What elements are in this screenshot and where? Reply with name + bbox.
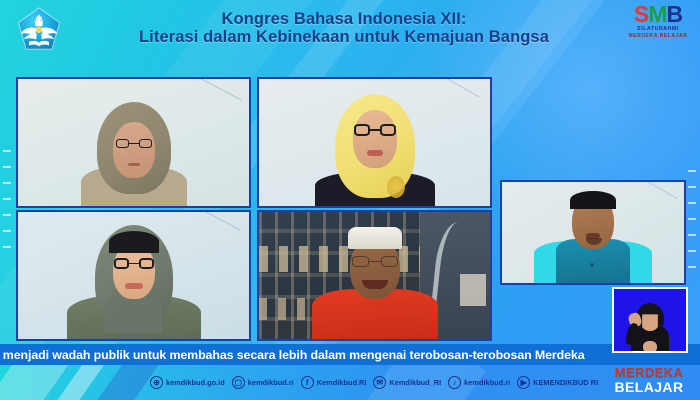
participant-figure [305, 90, 445, 206]
social-handle: Kemdikbud.RI [317, 378, 367, 387]
tiktok-icon: ♪ [448, 376, 461, 389]
video-tile-participant-5[interactable] [500, 180, 686, 285]
smb-subtitle-1: SILATURAHMI [622, 26, 694, 33]
social-link-website[interactable]: ⊕ kemdikbud.go.id [150, 376, 225, 389]
participant-face [113, 122, 155, 178]
ticker-text: g menjadi wadah publik untuk membahas se… [0, 348, 585, 362]
participant-glasses [114, 258, 154, 269]
video-tile-participant-3[interactable] [16, 210, 251, 341]
twitter-icon: ✉ [373, 376, 386, 389]
social-handle: kemdikbud.ri [464, 378, 510, 387]
decorative-dots-left [3, 150, 11, 260]
social-link-instagram[interactable]: ▢ kemdikbud.ri [232, 376, 294, 389]
news-ticker: g menjadi wadah publik untuk membahas se… [0, 344, 700, 365]
smb-logo: SMB SILATURAHMI MERDEKA BELAJAR [622, 2, 694, 50]
smb-subtitle-2: MERDEKA BELAJAR [622, 33, 694, 40]
video-tile-participant-1[interactable] [16, 77, 251, 208]
merdeka-belajar-line-2: BELAJAR [606, 380, 692, 395]
participant-hair [570, 191, 616, 209]
footer-bar: ⊕ kemdikbud.go.id ▢ kemdikbud.ri f Kemdi… [0, 365, 700, 400]
participant-figure [534, 191, 652, 283]
participant-glasses [354, 124, 396, 136]
social-link-twitter[interactable]: ✉ Kemdikbud_RI [373, 376, 441, 389]
participant-mouth [367, 150, 383, 156]
sign-language-interpreter-box[interactable] [612, 287, 688, 353]
social-media-bar: ⊕ kemdikbud.go.id ▢ kemdikbud.ri f Kemdi… [150, 365, 598, 400]
participant-brooch [387, 176, 405, 198]
instagram-icon: ▢ [232, 376, 245, 389]
participant-figure [69, 102, 199, 206]
decorative-dots-right [688, 170, 696, 280]
room-object [460, 274, 486, 306]
participant-glasses [352, 256, 398, 267]
smb-letter-b: B [666, 1, 682, 27]
social-handle: kemdikbud.go.id [166, 378, 225, 387]
social-link-facebook[interactable]: f Kemdikbud.RI [301, 376, 367, 389]
header-bar: Kongres Bahasa Indonesia XII: Literasi d… [0, 0, 700, 56]
merdeka-belajar-logo: MERDEKA BELAJAR [606, 366, 692, 398]
interpreter-hand [643, 341, 657, 353]
interpreter-figure [625, 299, 675, 353]
tut-wuri-handayani-logo [16, 7, 62, 51]
livestream-screen: Kongres Bahasa Indonesia XII: Literasi d… [0, 0, 700, 400]
participant-face [353, 110, 397, 168]
video-tile-participant-2[interactable] [257, 77, 492, 208]
participant-mouth [125, 283, 143, 289]
participant-figure [59, 221, 209, 339]
page-title: Kongres Bahasa Indonesia XII: Literasi d… [70, 5, 618, 53]
social-link-youtube[interactable]: ▶ KEMENDIKBUD RI [517, 376, 598, 389]
title-line-1: Kongres Bahasa Indonesia XII: [222, 11, 467, 29]
youtube-icon: ▶ [517, 376, 530, 389]
participant-vest-button [590, 263, 594, 267]
social-handle: KEMENDIKBUD RI [533, 378, 598, 387]
participant-hair [109, 231, 159, 253]
social-handle: kemdikbud.ri [248, 378, 294, 387]
web-icon: ⊕ [150, 376, 163, 389]
video-tile-participant-4[interactable] [257, 210, 492, 341]
title-line-2: Literasi dalam Kebinekaan untuk Kemajuan… [139, 29, 549, 47]
participant-peci-cap [348, 227, 402, 249]
social-handle: Kemdikbud_RI [389, 378, 441, 387]
social-link-tiktok[interactable]: ♪ kemdikbud.ri [448, 376, 510, 389]
smb-letter-m: M [648, 1, 666, 27]
participant-glasses [116, 139, 152, 148]
merdeka-belajar-line-1: MERDEKA [606, 366, 692, 380]
participant-mouth [128, 163, 140, 166]
facebook-icon: f [301, 376, 314, 389]
smb-letter-s: S [634, 1, 648, 27]
participant-figure [310, 227, 440, 339]
